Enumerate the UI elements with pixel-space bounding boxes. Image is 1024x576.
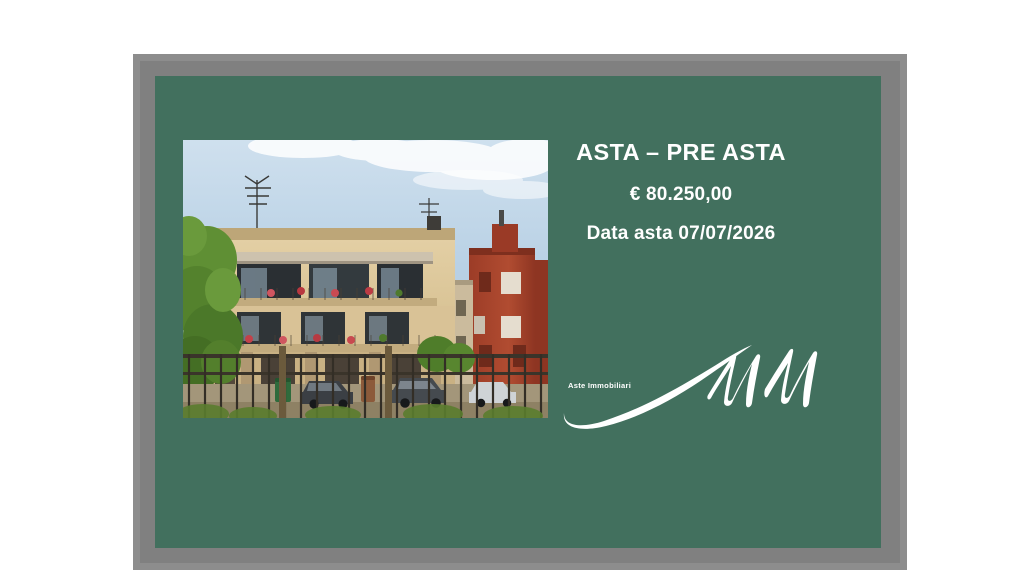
slide-root: ASTA – PRE ASTA € 80.250,00 Data asta 07… bbox=[0, 0, 1024, 576]
mm-monogram-strokes bbox=[707, 349, 817, 407]
auction-info-block: ASTA – PRE ASTA € 80.250,00 Data asta 07… bbox=[556, 138, 806, 247]
auction-price: € 80.250,00 bbox=[556, 183, 806, 208]
auction-date: Data asta 07/07/2026 bbox=[556, 222, 806, 247]
brand-tagline: Aste Immobiliari bbox=[568, 381, 631, 390]
property-photo bbox=[183, 140, 548, 418]
auction-title: ASTA – PRE ASTA bbox=[556, 138, 806, 167]
